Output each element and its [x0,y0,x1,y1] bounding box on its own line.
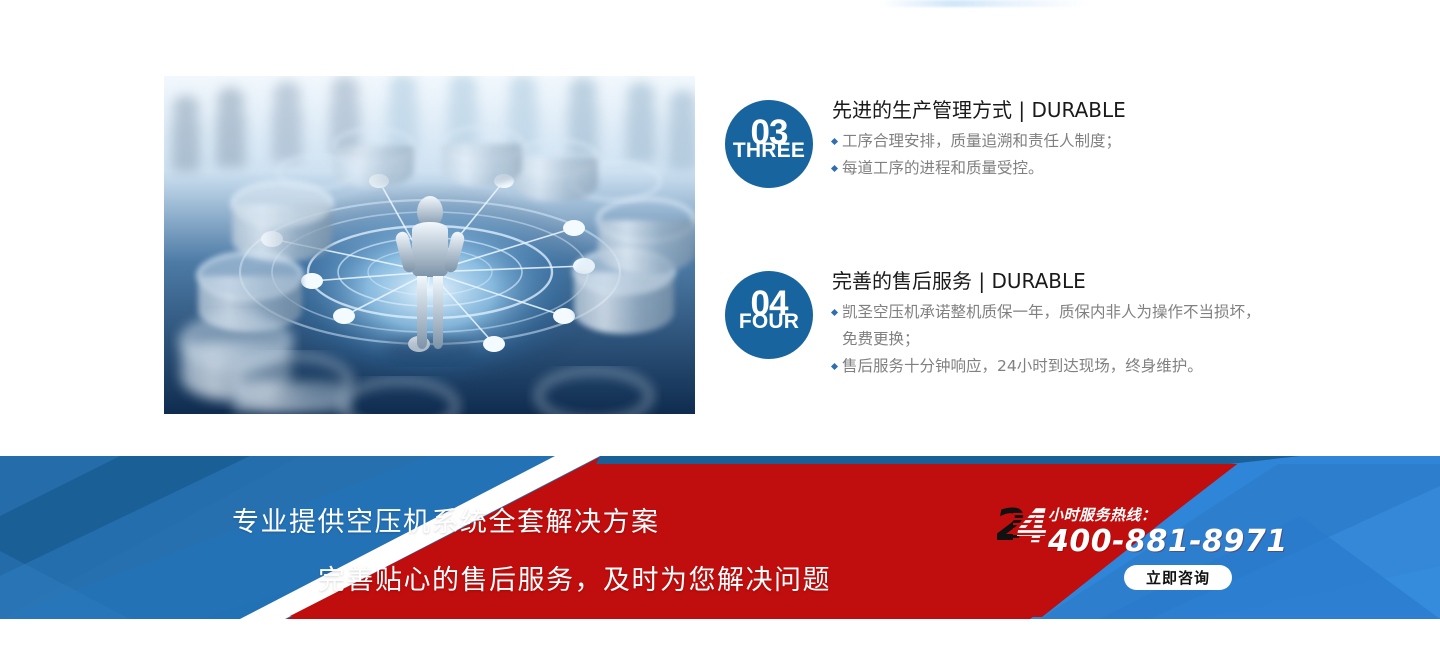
top-edge-remnant [880,0,1090,7]
feature-lines-03: 工序合理安排，质量追溯和责任人制度； 每道工序的进程和质量受控。 [832,128,1262,182]
feature-text-03: 先进的生产管理方式 | DURABLE 工序合理安排，质量追溯和责任人制度； 每… [832,95,1262,182]
feature-text-04: 完善的售后服务 | DURABLE 凯圣空压机承诺整机质保一年，质保内非人为操作… [832,266,1262,380]
feature-bullet-line: 工序合理安排，质量追溯和责任人制度； [832,128,1262,155]
feature-bullet-line: 凯圣空压机承诺整机质保一年，质保内非人为操作不当损坏，免费更换； [832,299,1262,353]
feature-bullet-text: 工序合理安排，质量追溯和责任人制度； [842,132,1121,150]
feature-bullet-line: 每道工序的进程和质量受控。 [832,155,1262,182]
banner-slogan-line-2: 完善贴心的售后服务，及时为您解决问题 [318,558,831,597]
feature-badge-04: 04 FOUR [725,271,813,359]
feature-bullet-line: 售后服务十分钟响应，24小时到达现场，终身维护。 [832,353,1262,380]
feature-word-04: FOUR [725,311,813,333]
banner-slogan-line-1: 专业提供空压机系统全套解决方案 [232,500,660,539]
feature-title-03: 先进的生产管理方式 | DURABLE [832,95,1262,125]
feature-word-03: THREE [725,140,813,162]
feature-title-04: 完善的售后服务 | DURABLE [832,266,1262,296]
feature-bullet-text: 每道工序的进程和质量受控。 [842,159,1044,177]
hotline-label: 小时服务热线： [1048,504,1157,525]
diamond-bullet-icon [831,309,838,316]
feature-bullet-text: 售后服务十分钟响应，24小时到达现场，终身维护。 [842,357,1203,375]
hotline-number: 400-881-8971 [1048,524,1288,559]
diamond-bullet-icon [831,138,838,145]
feature-lines-04: 凯圣空压机承诺整机质保一年，质保内非人为操作不当损坏，免费更换； 售后服务十分钟… [832,299,1262,380]
consult-now-button[interactable]: 立即咨询 [1124,565,1232,590]
feature-badge-03: 03 THREE [725,100,813,188]
feature-bullet-text: 凯圣空压机承诺整机质保一年，质保内非人为操作不当损坏，免费更换； [842,303,1261,348]
diamond-bullet-icon [831,165,838,172]
page-root: 03 THREE 先进的生产管理方式 | DURABLE 工序合理安排，质量追溯… [0,0,1440,663]
diamond-bullet-icon [831,363,838,370]
network-people-illustration [164,76,695,414]
